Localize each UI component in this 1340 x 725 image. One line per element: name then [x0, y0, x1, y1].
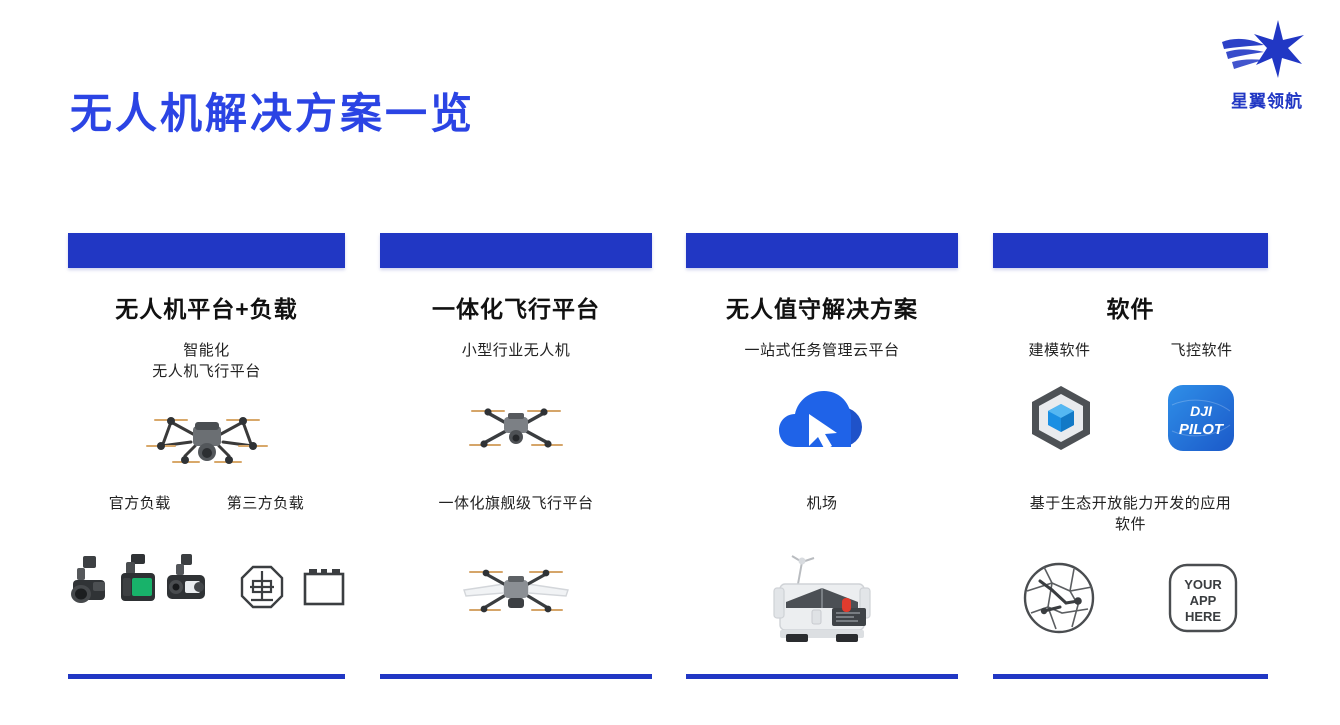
column-unattended-solution: 无人值守解决方案 一站式任务管理云平台 机场 — [686, 228, 958, 668]
section-ecosystem-apps: 基于生态开放能力开发的应用 软件 — [993, 493, 1268, 635]
software-tool-labels: 建模软件 飞控软件 — [993, 340, 1268, 361]
dji-pilot-line2: PILOT — [1178, 421, 1224, 438]
ecosystem-app-icons: YOUR APP HERE — [993, 561, 1268, 635]
dji-pilot-app-icon: DJI PILOT — [1166, 383, 1236, 453]
column-header-bar — [686, 233, 958, 268]
official-payload-label: 官方负载 — [109, 493, 171, 514]
column-integrated-flight-platform: 一体化飞行平台 小型行业无人机 — [380, 228, 652, 668]
flight-control-software-label: 飞控软件 — [1171, 340, 1233, 361]
software-tool-icons: DJI PILOT — [993, 383, 1268, 453]
third-party-payload-icons — [239, 564, 347, 610]
octagon-frame-payload-icon — [239, 564, 285, 610]
brand-logo-text: 星翼领航 — [1212, 87, 1322, 112]
star-wing-logo-icon — [1220, 18, 1314, 80]
column-footer-bar — [68, 674, 345, 679]
section-label: 小型行业无人机 — [380, 340, 652, 361]
section-label-line1: 基于生态开放能力开发的应用 — [993, 493, 1268, 514]
official-payload-icons — [67, 554, 209, 610]
drone-dock-station-icon — [686, 550, 958, 646]
column-title: 无人机平台+负载 — [68, 290, 345, 324]
section-dock: 机场 — [686, 493, 958, 646]
section-label: 一站式任务管理云平台 — [686, 340, 958, 361]
column-header-bar — [68, 233, 345, 268]
column-title: 软件 — [993, 290, 1268, 324]
compact-quadcopter-drone-icon — [380, 399, 652, 457]
modeling-software-label: 建模软件 — [1028, 340, 1090, 361]
column-footer-bar — [686, 674, 958, 679]
section-label-line2: 无人机飞行平台 — [68, 361, 345, 382]
column-title: 一体化飞行平台 — [380, 290, 652, 324]
column-header-bar — [993, 233, 1268, 268]
section-small-industry-drone: 小型行业无人机 — [380, 340, 652, 457]
column-footer-bar — [380, 674, 652, 679]
your-app-here-placeholder-icon: YOUR APP HERE — [1166, 561, 1240, 635]
section-payloads: 官方负载 第三方负载 — [68, 493, 345, 610]
section-integrated-flagship-flight-platform: 一体化旗舰级飞行平台 — [380, 493, 652, 622]
column-title: 无人值守解决方案 — [686, 290, 958, 324]
your-app-line2: APP — [1189, 593, 1216, 608]
page-title: 无人机解决方案一览 — [70, 80, 475, 141]
dji-pilot-line1: DJI — [1190, 403, 1213, 419]
section-label: 机场 — [686, 493, 958, 514]
section-intelligent-uav-flight-platform: 智能化 无人机飞行平台 — [68, 340, 345, 474]
brand-logo: 星翼领航 — [1212, 18, 1322, 114]
your-app-line3: HERE — [1184, 609, 1220, 624]
column-header-bar — [380, 233, 652, 268]
section-software-tools: 建模软件 飞控软件 — [993, 340, 1268, 453]
hexagon-cube-modeling-icon — [1026, 383, 1096, 453]
dual-sensor-camera-icon — [163, 554, 209, 610]
section-one-stop-mission-cloud-platform: 一站式任务管理云平台 — [686, 340, 958, 457]
gimbal-camera-icon — [67, 554, 113, 610]
column-software: 软件 建模软件 飞控软件 — [993, 228, 1268, 668]
industrial-quadcopter-drone-icon — [68, 400, 345, 474]
column-footer-bar — [993, 674, 1268, 679]
payload-media-row — [68, 554, 345, 610]
rectangular-box-payload-icon — [301, 566, 347, 608]
section-label-line1: 智能化 — [68, 340, 345, 361]
column-uav-platform-payload: 无人机平台+负载 智能化 无人机飞行平台 — [68, 228, 345, 668]
your-app-line1: YOUR — [1184, 577, 1222, 592]
payload-labels: 官方负载 第三方负载 — [68, 493, 345, 514]
section-label: 一体化旗舰级飞行平台 — [380, 493, 652, 514]
map-network-circle-icon — [1022, 561, 1096, 635]
flagship-quadcopter-drone-icon — [380, 560, 652, 622]
solution-columns: 无人机平台+负载 智能化 无人机飞行平台 — [0, 228, 1340, 668]
cloud-cursor-icon — [686, 385, 958, 457]
thermal-camera-green-lens-icon — [115, 554, 161, 610]
third-party-payload-label: 第三方负载 — [227, 493, 305, 514]
section-label-line2: 软件 — [993, 514, 1268, 535]
